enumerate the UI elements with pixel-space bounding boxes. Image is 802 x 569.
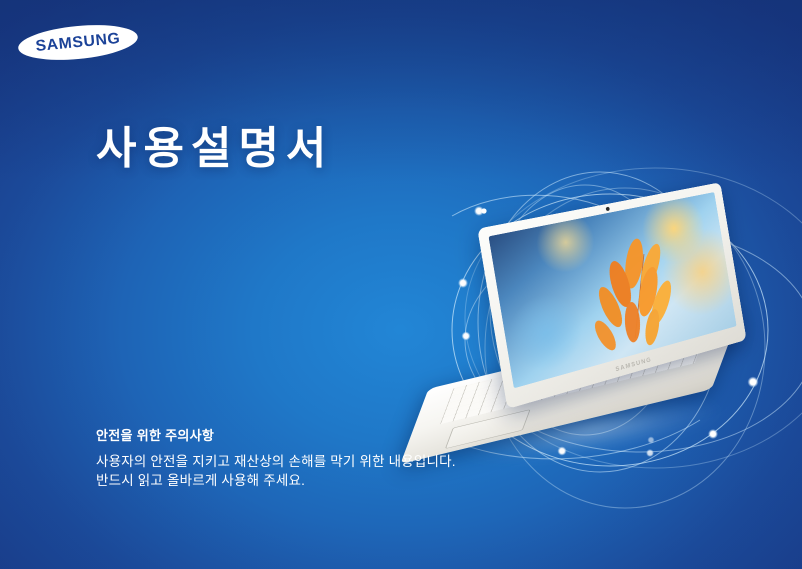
safety-line-1: 사용자의 안전을 지키고 재산상의 손해를 막기 위한 내용입니다.: [96, 452, 456, 471]
safety-notice-block: 안전을 위한 주의사항 사용자의 안전을 지키고 재산상의 손해를 막기 위한 …: [96, 425, 456, 490]
safety-heading: 안전을 위한 주의사항: [96, 425, 456, 444]
safety-line-2: 반드시 읽고 올바르게 사용해 주세요.: [96, 471, 456, 490]
manual-cover-page: SAMSUNG SAMSUNG 사용설명서 안전을 위한 주의사항 사용자의 안…: [0, 0, 802, 569]
samsung-logo: SAMSUNG: [17, 20, 140, 64]
laptop-product-image: SAMSUNG: [400, 195, 800, 485]
page-title: 사용설명서: [96, 112, 333, 176]
logo-wordmark: SAMSUNG: [16, 20, 141, 65]
webcam-icon: [606, 207, 610, 212]
